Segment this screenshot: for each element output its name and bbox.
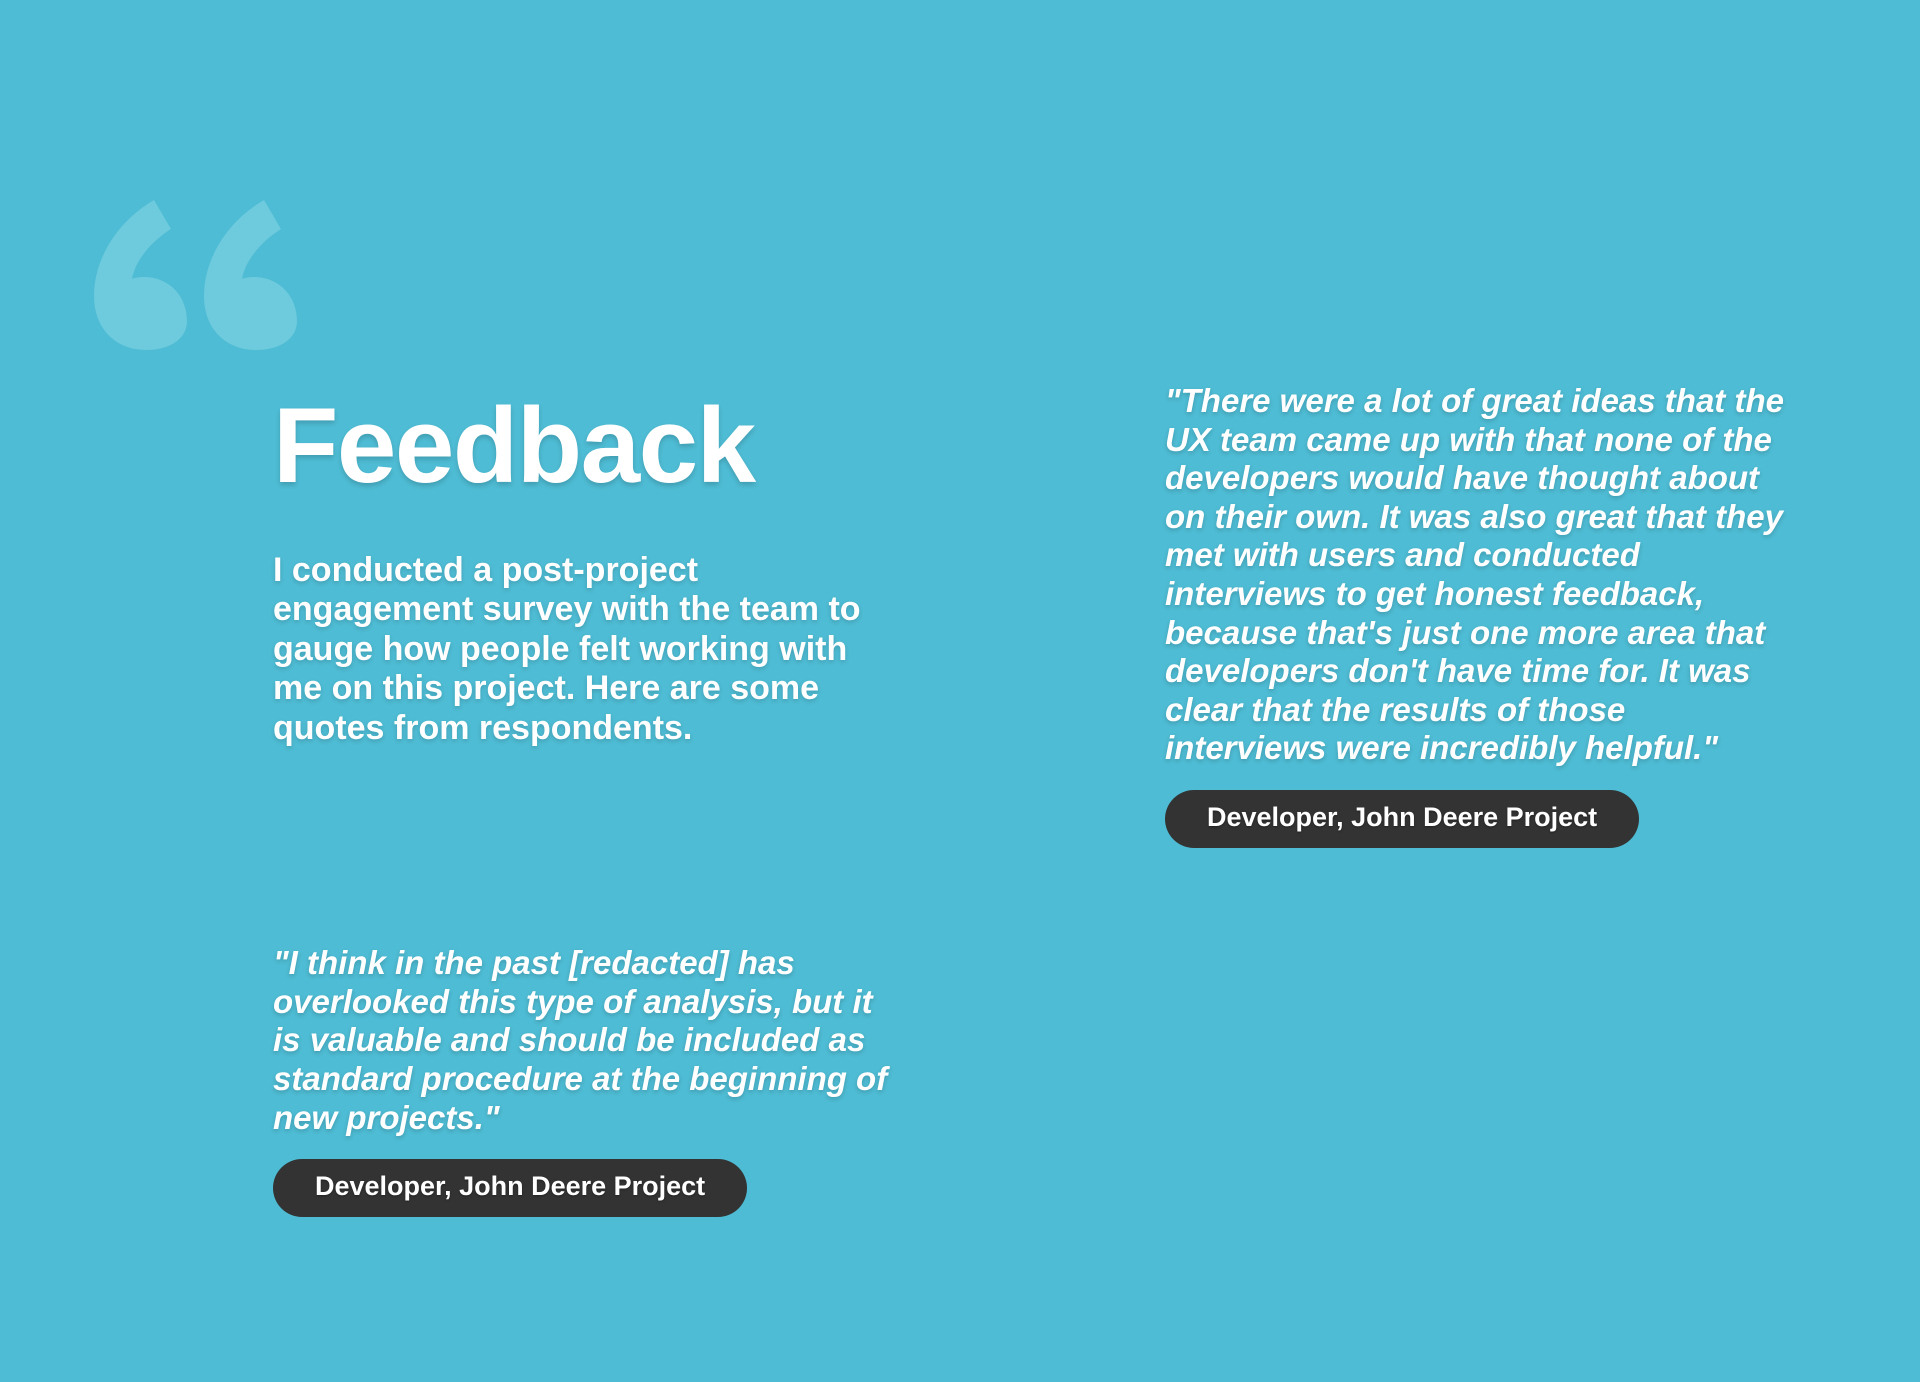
quote-attribution-badge: Developer, John Deere Project [273, 1159, 747, 1217]
left-column: Feedback I conducted a post-project enga… [273, 392, 893, 1217]
quote-attribution-badge: Developer, John Deere Project [1165, 790, 1639, 848]
page-title: Feedback [273, 392, 893, 499]
quote-card-right: "There were a lot of great ideas that th… [1165, 382, 1790, 848]
quote-text: "There were a lot of great ideas that th… [1165, 382, 1790, 768]
feedback-slide: Feedback I conducted a post-project enga… [0, 0, 1920, 1382]
right-column: "There were a lot of great ideas that th… [1165, 382, 1790, 848]
quote-card-left: "I think in the past [redacted] has over… [273, 944, 893, 1217]
quote-text: "I think in the past [redacted] has over… [273, 944, 893, 1137]
intro-paragraph: I conducted a post-project engagement su… [273, 551, 893, 748]
open-double-quote-icon [88, 150, 328, 350]
